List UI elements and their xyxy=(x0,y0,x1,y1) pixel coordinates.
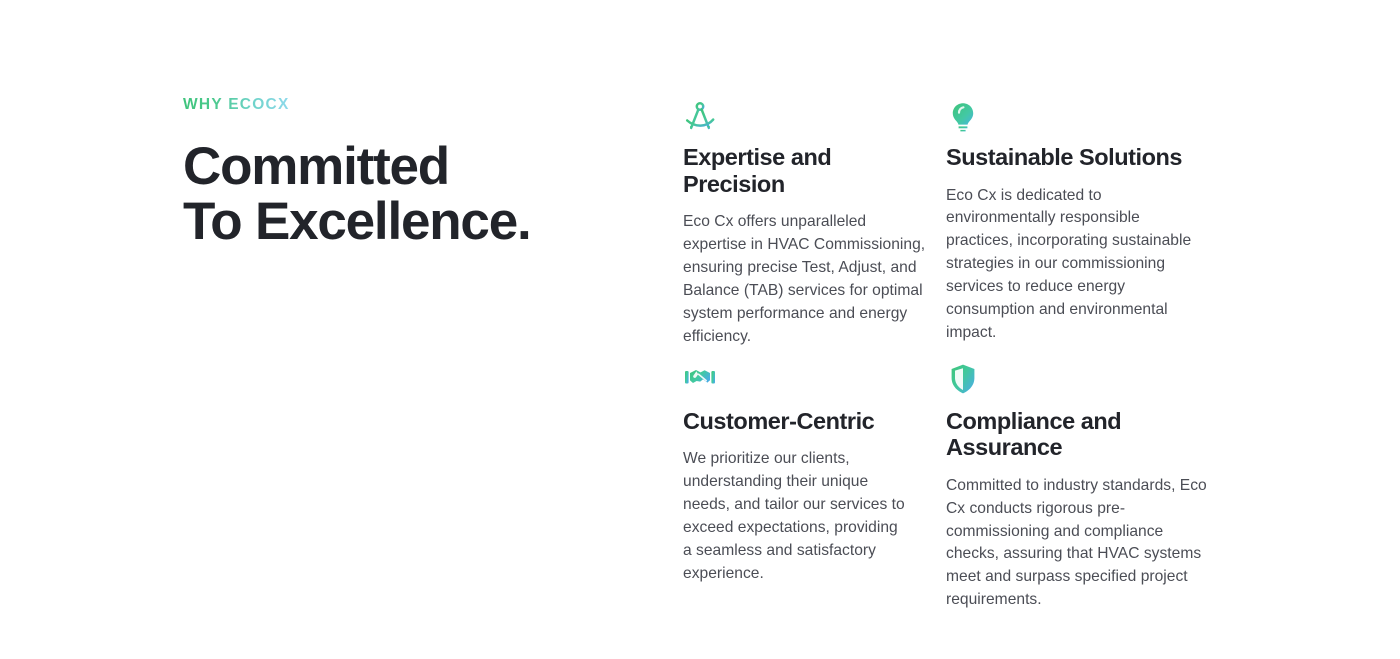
lightbulb-icon xyxy=(946,100,980,134)
why-ecocx-section: WHY ECOCX Committed To Excellence. xyxy=(0,0,1400,659)
feature-description: Eco Cx is dedicated to environmentally r… xyxy=(946,185,1198,345)
feature-card-compliance-and-assurance: Compliance and Assurance Committed to in… xyxy=(946,362,1198,613)
feature-description: We prioritize our clients, understanding… xyxy=(683,448,905,586)
page-title: Committed To Excellence. xyxy=(183,139,613,250)
feature-title: Expertise and Precision xyxy=(683,144,923,197)
feature-grid: Expertise and Precision Eco Cx offers un… xyxy=(683,100,1203,612)
compass-drafting-icon xyxy=(683,100,717,134)
feature-title: Compliance and Assurance xyxy=(946,408,1198,461)
feature-description: Eco Cx offers unparalleled expertise in … xyxy=(683,211,928,349)
section-eyebrow: WHY ECOCX xyxy=(183,96,290,115)
handshake-icon xyxy=(683,362,717,396)
feature-description: Committed to industry standards, Eco Cx … xyxy=(946,475,1212,613)
feature-card-sustainable-solutions: Sustainable Solutions Eco Cx is dedicate… xyxy=(946,100,1198,349)
feature-title: Customer-Centric xyxy=(683,408,923,435)
shield-check-icon xyxy=(946,362,980,396)
feature-card-expertise-and-precision: Expertise and Precision Eco Cx offers un… xyxy=(683,100,923,349)
feature-title: Sustainable Solutions xyxy=(946,144,1198,171)
section-intro: WHY ECOCX Committed To Excellence. xyxy=(183,96,613,285)
feature-card-customer-centric: Customer-Centric We prioritize our clien… xyxy=(683,362,923,613)
